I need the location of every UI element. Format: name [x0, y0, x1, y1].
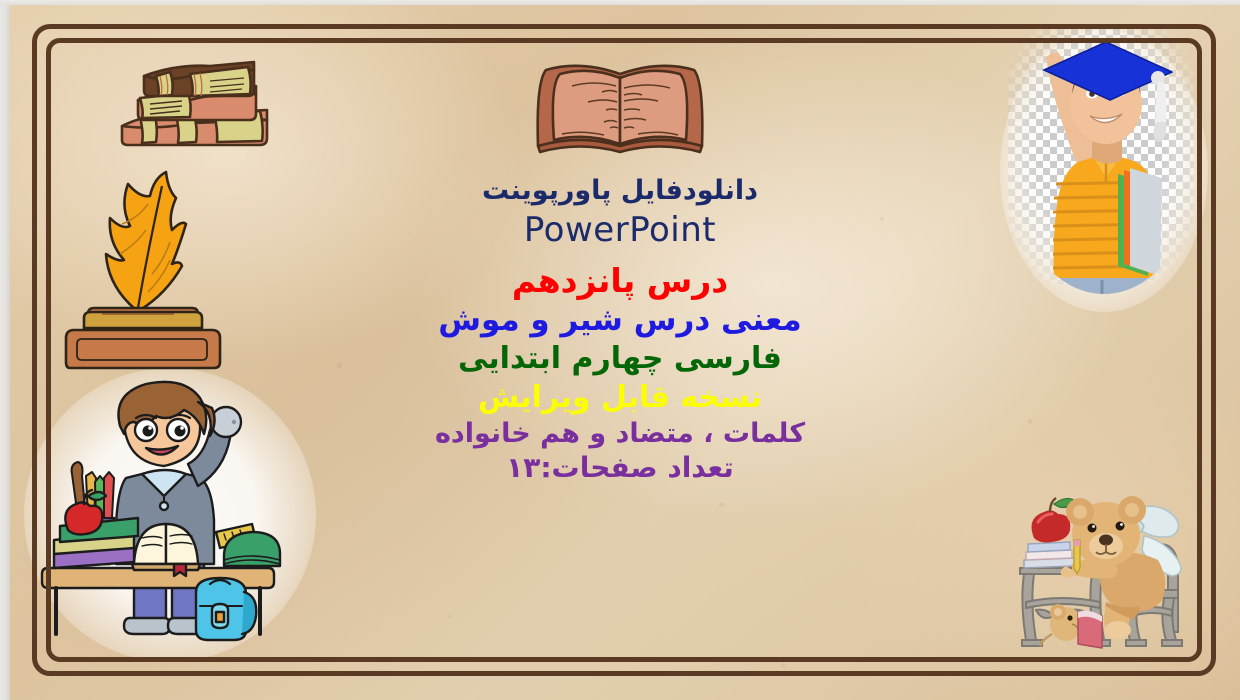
open-book-icon [520, 48, 720, 166]
graduate-boy-photo [1006, 26, 1202, 310]
download-label: دانلودفایل پاورپوینت [360, 176, 880, 207]
top-edge-strip [0, 0, 1240, 5]
left-edge-strip [0, 0, 10, 700]
subject-grade: فارسی چهارم ابتدایی [360, 342, 880, 376]
lesson-number: درس پانزدهم [360, 262, 880, 300]
lesson-title: معنی درس شیر و موش [360, 303, 880, 338]
books-stack-icon [110, 48, 300, 168]
page-count: تعداد صفحات:۱۳ [360, 452, 880, 484]
student-at-desk-icon [38, 378, 302, 650]
teddy-bear-at-desk-icon [1002, 482, 1216, 654]
topics-line: کلمات ، متضاد و هم خانواده [360, 419, 880, 450]
slide-text-block: دانلودفایل پاورپوینت PowerPoint درس پانز… [360, 176, 880, 484]
powerpoint-word: PowerPoint [360, 211, 880, 250]
editable-note: نسخه قابل ویرایش [360, 381, 880, 415]
presentation-slide: دانلودفایل پاورپوینت PowerPoint درس پانز… [0, 0, 1240, 700]
quill-and-inkwell-icon [62, 168, 222, 374]
